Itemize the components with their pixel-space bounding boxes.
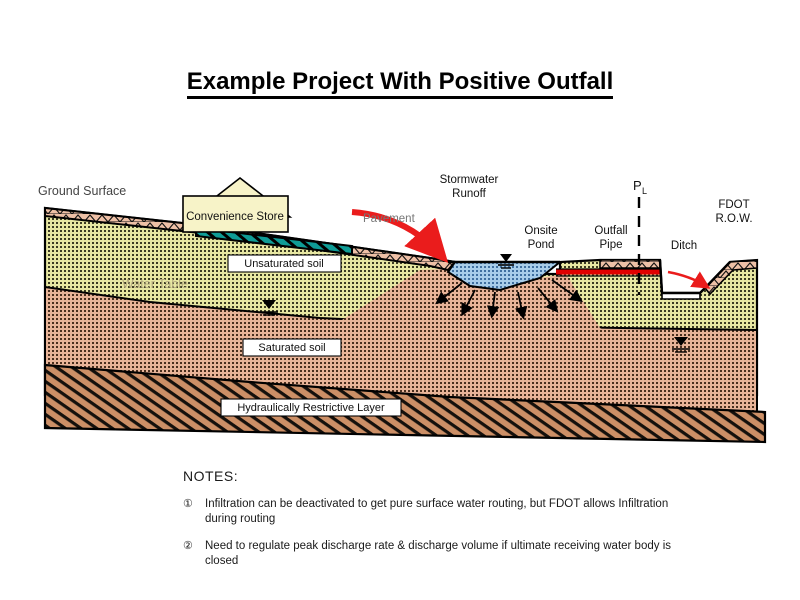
saturated-soil-label: Saturated soil (258, 342, 325, 354)
fdot-row-line1: FDOT (718, 199, 749, 211)
pavement-label: Pavement (363, 213, 416, 225)
unsaturated-soil-label: Unsaturated soil (244, 258, 324, 270)
page-title-text: Example Project With Positive Outfall (187, 69, 614, 99)
restrictive-layer-label-box: Hydraulically Restrictive Layer (221, 399, 401, 416)
ditch-label: Ditch (671, 240, 697, 252)
stormwater-runoff-line2: Runoff (452, 188, 486, 200)
note-item: ② Need to regulate peak discharge rate &… (183, 539, 743, 568)
stormwater-runoff-line1: Stormwater (440, 174, 499, 186)
saturated-soil-label-box: Saturated soil (243, 339, 341, 356)
outfall-pipe-label: Outfall Pipe (594, 225, 627, 251)
property-line-label: P L (633, 178, 647, 196)
page-title: Example Project With Positive Outfall (0, 68, 800, 99)
notes-heading: NOTES: (183, 468, 743, 484)
onsite-pond-line2: Pond (528, 239, 555, 251)
property-line-letter: P (633, 178, 642, 193)
note-item: ① Infiltration can be deactivated to get… (183, 497, 743, 526)
restrictive-layer-label: Hydraulically Restrictive Layer (237, 402, 385, 414)
note-bullet-icon: ① (183, 497, 205, 512)
convenience-store-building (183, 178, 290, 232)
note-bullet-icon: ② (183, 539, 205, 554)
cross-section-diagram: Convenience Store (0, 150, 800, 450)
ditch-flow-arrow (668, 272, 706, 286)
slide-page: Example Project With Positive Outfall (0, 0, 800, 600)
property-line-subscript: L (642, 186, 647, 196)
stormwater-runoff-label: Stormwater Runoff (440, 174, 499, 200)
fdot-row-label: FDOT R.O.W. (715, 199, 752, 225)
note-text: Need to regulate peak discharge rate & d… (205, 539, 675, 568)
convenience-store-label: Convenience Store (186, 211, 284, 223)
unsaturated-soil-label-box: Unsaturated soil (228, 255, 341, 272)
note-text: Infiltration can be deactivated to get p… (205, 497, 675, 526)
notes-section: NOTES: ① Infiltration can be deactivated… (183, 468, 743, 582)
water-table-label: Water Table (122, 277, 188, 291)
onsite-pond-label: Onsite Pond (524, 225, 557, 251)
onsite-pond-line1: Onsite (524, 225, 557, 237)
ground-surface-label: Ground Surface (38, 184, 126, 198)
outfall-pipe-line1: Outfall (594, 225, 627, 237)
outfall-pipe-line2: Pipe (599, 239, 622, 251)
fdot-row-line2: R.O.W. (715, 213, 752, 225)
